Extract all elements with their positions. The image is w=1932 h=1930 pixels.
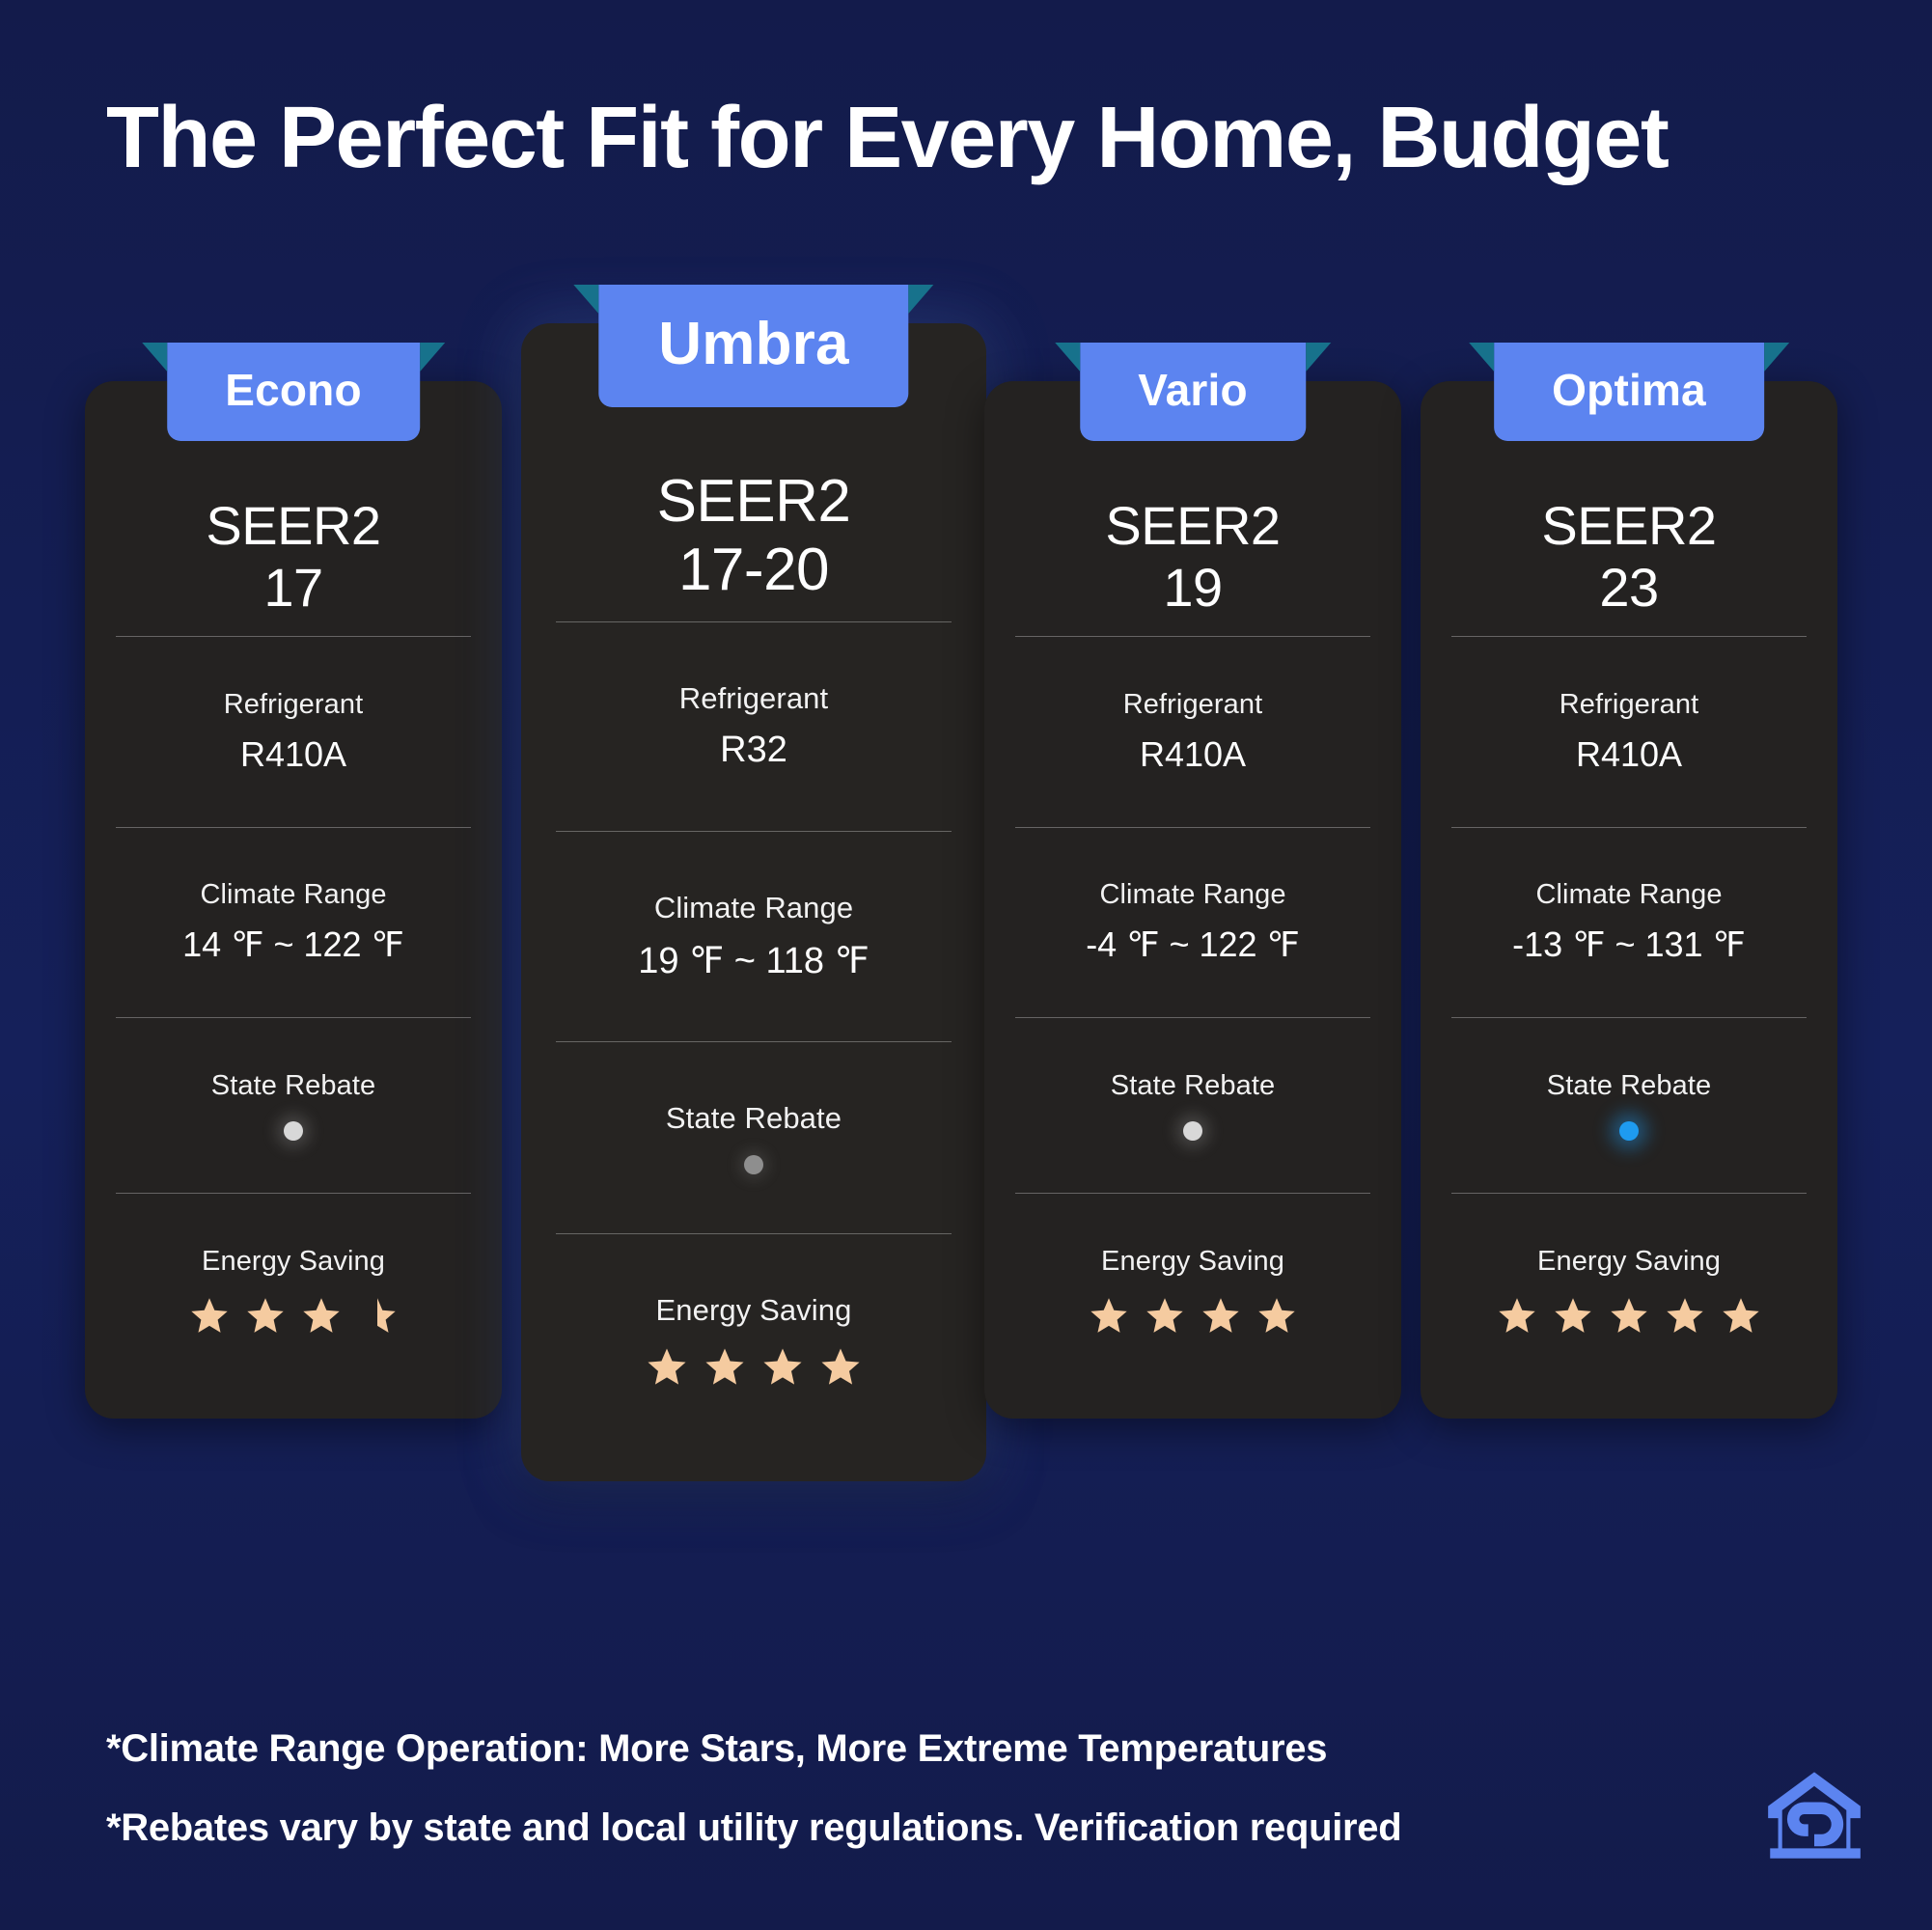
seer-value: 19 bbox=[1009, 557, 1376, 619]
climate-range-label: Climate Range bbox=[1099, 879, 1285, 911]
state-rebate: State Rebate bbox=[1446, 1018, 1812, 1193]
energy-saving-label: Energy Saving bbox=[1101, 1246, 1284, 1278]
state-rebate-label: State Rebate bbox=[211, 1070, 376, 1102]
energy-saving-stars bbox=[1496, 1295, 1762, 1337]
half-star-icon bbox=[356, 1295, 399, 1337]
climate-range-label: Climate Range bbox=[200, 879, 386, 911]
climate-range: Climate Range-4 ℉ ~ 122 ℉ bbox=[1009, 828, 1376, 1018]
star-icon bbox=[1552, 1295, 1594, 1337]
climate-range: Climate Range19 ℉ ~ 118 ℉ bbox=[550, 832, 957, 1041]
refrigerant-value: R410A bbox=[240, 734, 346, 775]
star-icon bbox=[1608, 1295, 1650, 1337]
state-rebate-label: State Rebate bbox=[1547, 1070, 1712, 1102]
seer-block: SEER217-20 bbox=[550, 468, 957, 621]
refrigerant-label: Refrigerant bbox=[1123, 689, 1263, 721]
page-title: The Perfect Fit for Every Home, Budget bbox=[106, 93, 1843, 184]
state-rebate-label: State Rebate bbox=[666, 1101, 842, 1136]
energy-saving-label: Energy Saving bbox=[202, 1246, 385, 1278]
badge-notch-right-icon bbox=[1306, 343, 1331, 372]
seer-label: SEER2 bbox=[1446, 495, 1812, 557]
card-body: SEER219RefrigerantR410AClimate Range-4 ℉… bbox=[984, 381, 1401, 1419]
climate-range: Climate Range-13 ℉ ~ 131 ℉ bbox=[1446, 828, 1812, 1018]
state-rebate: State Rebate bbox=[110, 1018, 477, 1193]
product-card-vario[interactable]: VarioSEER219RefrigerantR410AClimate Rang… bbox=[984, 381, 1401, 1419]
climate-range-label: Climate Range bbox=[654, 891, 853, 925]
card-body: SEER217-20RefrigerantR32Climate Range19 … bbox=[521, 323, 986, 1481]
card-badge-econo[interactable]: Econo bbox=[167, 343, 420, 441]
state-rebate: State Rebate bbox=[550, 1042, 957, 1233]
refrigerant-value: R410A bbox=[1140, 734, 1246, 775]
card-badge-vario[interactable]: Vario bbox=[1080, 343, 1306, 441]
card-badge-wrap: Econo bbox=[167, 343, 420, 441]
star-icon bbox=[1256, 1295, 1298, 1337]
climate-range-value: -13 ℉ ~ 131 ℉ bbox=[1512, 924, 1746, 965]
star-icon bbox=[1088, 1295, 1130, 1337]
card-badge-wrap: Optima bbox=[1494, 343, 1764, 441]
card-body: SEER223RefrigerantR410AClimate Range-13 … bbox=[1421, 381, 1837, 1419]
house-logo-icon bbox=[1762, 1764, 1866, 1864]
seer-label: SEER2 bbox=[1009, 495, 1376, 557]
badge-notch-left-icon bbox=[142, 343, 167, 372]
product-card-optima[interactable]: OptimaSEER223RefrigerantR410AClimate Ran… bbox=[1421, 381, 1837, 1419]
rebate-indicator-dot bbox=[1183, 1121, 1202, 1141]
star-icon bbox=[760, 1345, 805, 1390]
badge-notch-right-icon bbox=[909, 285, 934, 314]
badge-notch-right-icon bbox=[1764, 343, 1789, 372]
energy-saving-stars bbox=[1088, 1295, 1298, 1337]
energy-saving-stars bbox=[645, 1345, 863, 1390]
card-body: SEER217RefrigerantR410AClimate Range14 ℉… bbox=[85, 381, 502, 1419]
star-icon bbox=[1200, 1295, 1242, 1337]
climate-range-value: 19 ℉ ~ 118 ℉ bbox=[638, 939, 869, 982]
climate-range-value: -4 ℉ ~ 122 ℉ bbox=[1086, 924, 1300, 965]
energy-saving-label: Energy Saving bbox=[656, 1293, 852, 1328]
refrigerant-value: R410A bbox=[1576, 734, 1682, 775]
refrigerant: RefrigerantR410A bbox=[1446, 637, 1812, 827]
climate-range-label: Climate Range bbox=[1535, 879, 1722, 911]
state-rebate: State Rebate bbox=[1009, 1018, 1376, 1193]
refrigerant: RefrigerantR32 bbox=[550, 622, 957, 830]
seer-block: SEER217 bbox=[110, 495, 477, 636]
refrigerant-value: R32 bbox=[720, 730, 787, 771]
badge-notch-left-icon bbox=[573, 285, 598, 314]
refrigerant-label: Refrigerant bbox=[224, 689, 364, 721]
refrigerant-label: Refrigerant bbox=[679, 681, 828, 716]
refrigerant-label: Refrigerant bbox=[1559, 689, 1699, 721]
star-icon bbox=[1144, 1295, 1186, 1337]
seer-block: SEER223 bbox=[1446, 495, 1812, 636]
climate-range-value: 14 ℉ ~ 122 ℉ bbox=[182, 924, 404, 965]
rebate-indicator-dot bbox=[1619, 1121, 1639, 1141]
badge-notch-right-icon bbox=[420, 343, 445, 372]
card-badge-wrap: Umbra bbox=[598, 285, 908, 407]
rebate-indicator-dot bbox=[284, 1121, 303, 1141]
badge-notch-left-icon bbox=[1469, 343, 1494, 372]
energy-saving-stars bbox=[188, 1295, 399, 1337]
star-icon bbox=[818, 1345, 863, 1390]
card-badge-umbra[interactable]: Umbra bbox=[598, 285, 908, 407]
footnotes: *Climate Range Operation: More Stars, Mo… bbox=[106, 1729, 1698, 1847]
star-icon bbox=[703, 1345, 747, 1390]
refrigerant: RefrigerantR410A bbox=[110, 637, 477, 827]
badge-notch-left-icon bbox=[1055, 343, 1080, 372]
star-icon bbox=[1664, 1295, 1706, 1337]
energy-saving: Energy Saving bbox=[550, 1234, 957, 1448]
seer-value: 17-20 bbox=[550, 537, 957, 605]
energy-saving: Energy Saving bbox=[1009, 1194, 1376, 1390]
infographic-page: The Perfect Fit for Every Home, Budget E… bbox=[0, 0, 1932, 1930]
comparison-cards: EconoSEER217RefrigerantR410AClimate Rang… bbox=[0, 289, 1932, 1640]
card-badge-optima[interactable]: Optima bbox=[1494, 343, 1764, 441]
rebate-indicator-dot bbox=[744, 1155, 763, 1174]
product-card-umbra[interactable]: UmbraSEER217-20RefrigerantR32Climate Ran… bbox=[521, 323, 986, 1481]
card-badge-wrap: Vario bbox=[1080, 343, 1306, 441]
star-icon bbox=[244, 1295, 287, 1337]
seer-value: 17 bbox=[110, 557, 477, 619]
star-icon bbox=[188, 1295, 231, 1337]
seer-block: SEER219 bbox=[1009, 495, 1376, 636]
star-icon bbox=[1496, 1295, 1538, 1337]
star-icon bbox=[645, 1345, 689, 1390]
star-icon bbox=[1720, 1295, 1762, 1337]
state-rebate-label: State Rebate bbox=[1111, 1070, 1276, 1102]
energy-saving-label: Energy Saving bbox=[1537, 1246, 1721, 1278]
refrigerant: RefrigerantR410A bbox=[1009, 637, 1376, 827]
climate-range: Climate Range14 ℉ ~ 122 ℉ bbox=[110, 828, 477, 1018]
seer-value: 23 bbox=[1446, 557, 1812, 619]
seer-label: SEER2 bbox=[110, 495, 477, 557]
seer-label: SEER2 bbox=[550, 468, 957, 537]
energy-saving: Energy Saving bbox=[110, 1194, 477, 1390]
footnote-rebates: *Rebates vary by state and local utility… bbox=[106, 1808, 1698, 1847]
energy-saving: Energy Saving bbox=[1446, 1194, 1812, 1390]
footnote-climate-range: *Climate Range Operation: More Stars, Mo… bbox=[106, 1729, 1698, 1768]
product-card-econo[interactable]: EconoSEER217RefrigerantR410AClimate Rang… bbox=[85, 381, 502, 1419]
star-icon bbox=[300, 1295, 343, 1337]
